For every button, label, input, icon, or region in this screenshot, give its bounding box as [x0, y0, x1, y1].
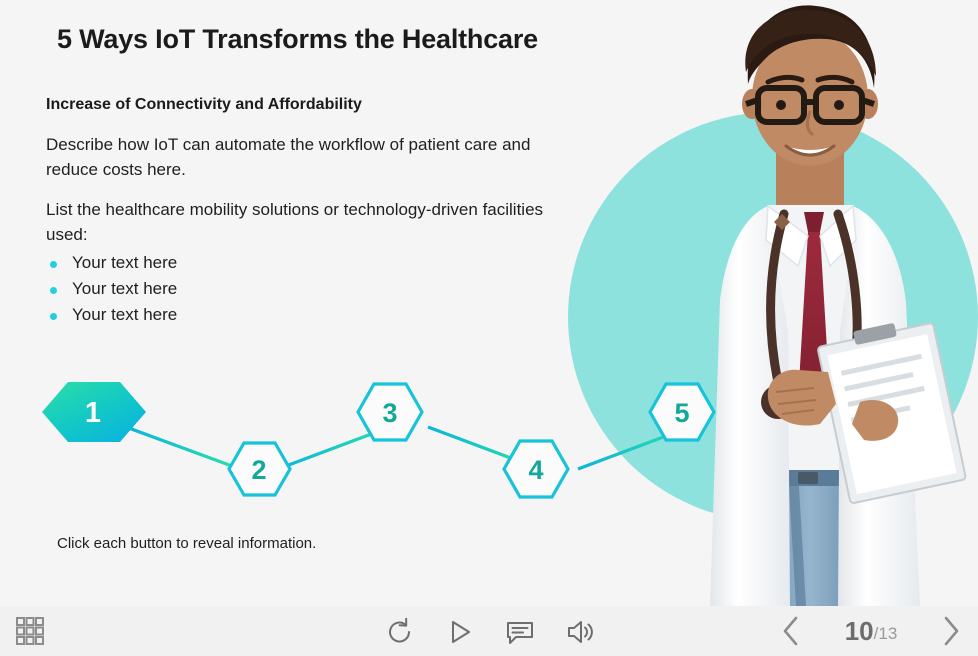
play-icon[interactable] [445, 617, 475, 647]
list-item: Your text here [46, 302, 177, 328]
volume-icon[interactable] [565, 617, 595, 647]
replay-icon[interactable] [385, 617, 415, 647]
current-page-number: 10 [845, 616, 874, 646]
step-hexagon-2[interactable]: 2 [229, 443, 290, 495]
bullet-dot-icon [50, 287, 57, 294]
paragraph-list-intro: List the healthcare mobility solutions o… [46, 198, 586, 247]
slide-content-area: 5 Ways IoT Transforms the Healthcare Inc… [0, 0, 978, 606]
step-hexagon-4[interactable]: 4 [504, 441, 568, 497]
page-counter: 10/13 [845, 616, 898, 647]
total-page-number: 13 [878, 624, 897, 643]
chevron-left-icon[interactable] [778, 614, 804, 648]
list-item-label: Your text here [72, 253, 177, 272]
step-hexagon-4-label: 4 [528, 455, 543, 485]
page-navigation: 10/13 [778, 612, 964, 650]
captions-icon[interactable] [505, 617, 535, 647]
step-hexagon-5[interactable]: 5 [650, 384, 714, 440]
step-hexagon-2-label: 2 [251, 455, 266, 485]
step-hexagon-5-label: 5 [674, 398, 689, 428]
list-item-label: Your text here [72, 279, 177, 298]
step-hexagon-1[interactable]: 1 [42, 382, 146, 442]
step-hexagon-3[interactable]: 3 [358, 384, 422, 440]
list-item-label: Your text here [72, 305, 177, 324]
slide-root: 5 Ways IoT Transforms the Healthcare Inc… [0, 0, 978, 656]
instruction-hint: Click each button to reveal information. [57, 535, 316, 552]
playback-controls [385, 616, 595, 648]
grid-icon[interactable] [14, 615, 46, 647]
section-subtitle: Increase of Connectivity and Affordabili… [46, 96, 362, 114]
list-item: Your text here [46, 276, 177, 302]
paragraph-describe: Describe how IoT can automate the workfl… [46, 133, 586, 182]
page-title: 5 Ways IoT Transforms the Healthcare [57, 24, 538, 55]
step-hexagon-3-label: 3 [382, 398, 397, 428]
list-item: Your text here [46, 250, 177, 276]
hexagon-step-graphic: 1 2 3 4 5 [40, 368, 730, 518]
bullet-dot-icon [50, 261, 57, 268]
chevron-right-icon[interactable] [938, 614, 964, 648]
bullet-list: Your text here Your text here Your text … [46, 250, 177, 328]
bullet-dot-icon [50, 313, 57, 320]
step-hexagon-1-label: 1 [85, 397, 101, 429]
